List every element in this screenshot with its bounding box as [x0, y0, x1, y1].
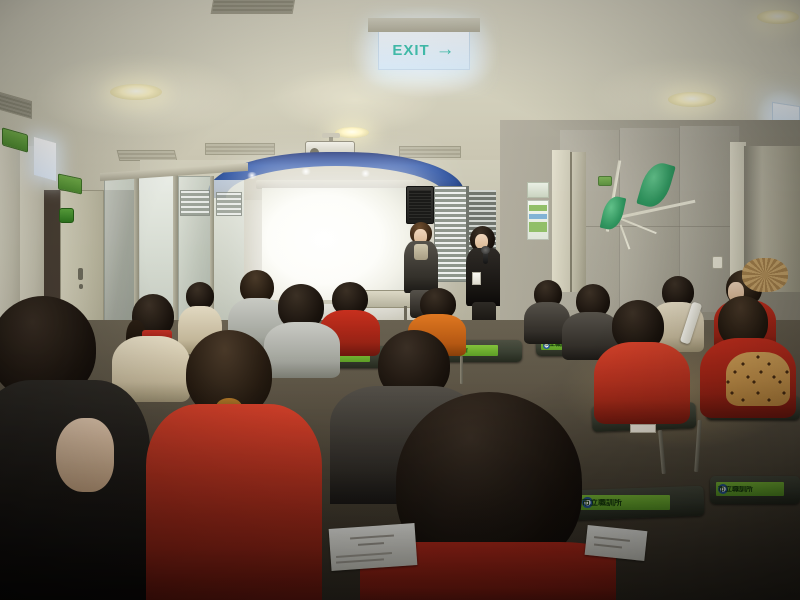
light-switch — [712, 256, 723, 269]
green-sign-square — [59, 208, 74, 223]
green-sign-plate — [598, 176, 612, 186]
seminar-room-photo: EXIT → — [0, 0, 800, 600]
leopard-scarf — [726, 352, 790, 406]
downlight-icon — [110, 84, 162, 100]
air-vent-icon — [211, 0, 296, 14]
poster-content-row — [529, 214, 547, 219]
poster-content-row — [529, 205, 547, 211]
microphone-head-icon — [481, 246, 490, 254]
poster-content-row — [529, 222, 547, 232]
projection-screen — [262, 188, 410, 302]
torso — [264, 322, 340, 378]
chair-label-text: 市立職訓所 — [718, 486, 753, 493]
doorway-frame — [552, 150, 570, 292]
partition-window-blinds — [180, 190, 210, 216]
chair-label-text: 市立職訓所 — [582, 499, 622, 507]
exit-sign-content: EXIT → — [379, 31, 469, 69]
torso — [146, 404, 322, 600]
chair-label: 市立職訓所 — [716, 482, 784, 496]
arc-accent-light-icon — [246, 172, 258, 179]
paper-handout — [329, 523, 418, 571]
torso — [594, 342, 690, 424]
presenter-left-scarf — [414, 244, 428, 260]
chair-leg — [460, 356, 463, 384]
air-vent-icon — [205, 143, 275, 155]
doorway-alcove-left — [570, 152, 586, 292]
exit-label: EXIT — [392, 42, 429, 59]
corridor-fluorescent-light — [34, 137, 56, 181]
door-handle-icon[interactable] — [78, 268, 83, 280]
arc-accent-light-icon — [300, 168, 312, 175]
presenter-badge — [472, 272, 481, 285]
poster-upper — [527, 182, 549, 198]
wall-horizontal-seam — [560, 226, 742, 227]
shoulder-arm — [56, 418, 114, 492]
fur-collar — [742, 258, 788, 292]
arc-accent-light-icon — [360, 170, 371, 177]
exit-sign-ceiling: EXIT → — [378, 30, 470, 70]
air-vent-icon — [399, 146, 461, 158]
window-blinds — [434, 186, 468, 282]
downlight-icon — [335, 127, 369, 138]
exit-sign-housing — [368, 18, 480, 32]
partition-window-blinds — [216, 192, 242, 216]
arrow-right-icon: → — [436, 39, 456, 61]
chair-inventory-tag — [630, 424, 656, 433]
speaker-grill-icon — [409, 190, 431, 220]
downlight-icon — [668, 92, 716, 107]
downlight-icon — [757, 10, 799, 24]
chair-label: 市立職訓所 — [580, 495, 670, 510]
door-lock-icon — [79, 284, 83, 289]
